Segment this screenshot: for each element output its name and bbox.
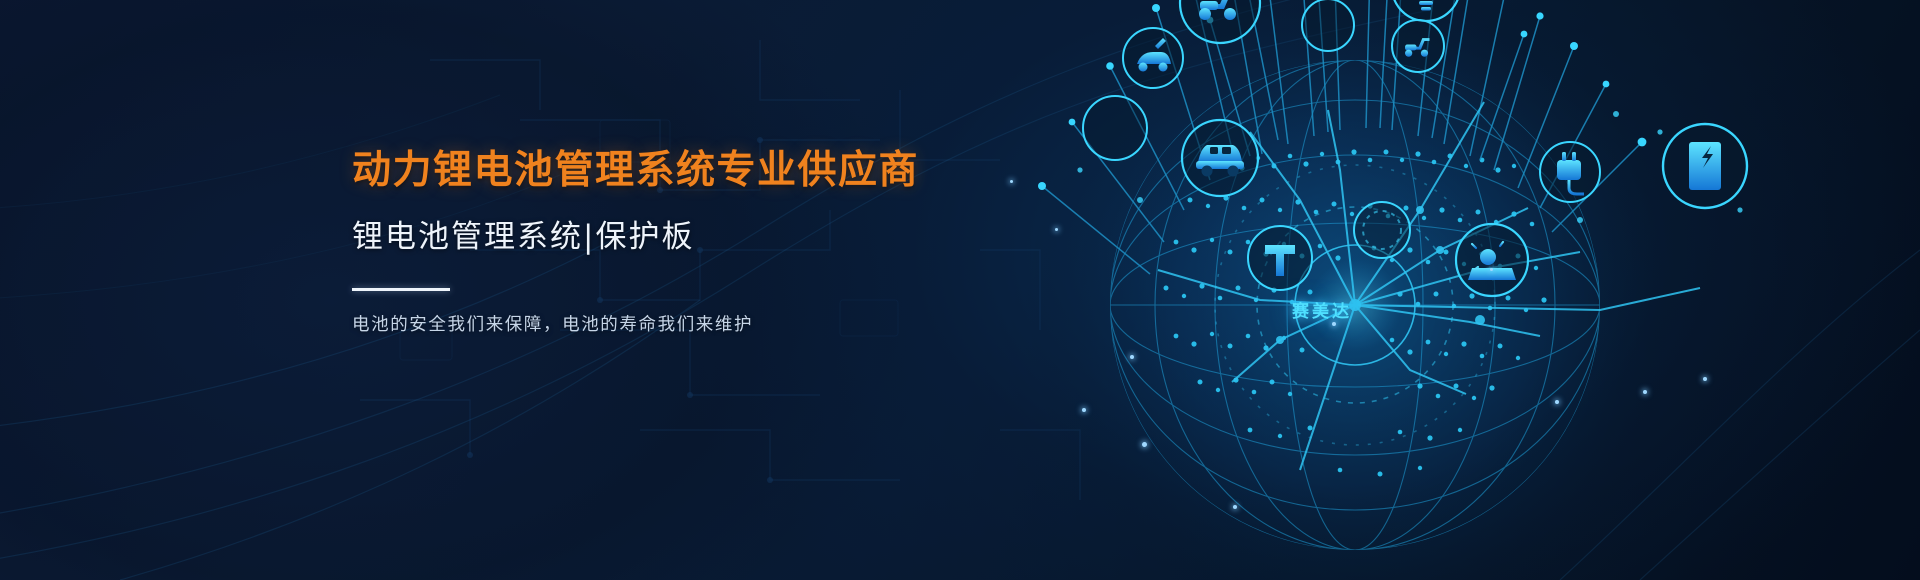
- node-empty-mid: [1354, 202, 1410, 258]
- node-empty-left: [1083, 96, 1147, 160]
- node-empty-upper: [1302, 0, 1354, 51]
- glow-dot: [1142, 442, 1147, 447]
- glow-dot: [1490, 268, 1493, 271]
- glow-dot: [1082, 408, 1086, 412]
- glow-dot: [1703, 377, 1707, 381]
- glow-dot: [1332, 322, 1336, 326]
- glow-dot: [1233, 505, 1237, 509]
- page-title: 动力锂电池管理系统专业供应商: [352, 148, 992, 193]
- glow-dot: [1010, 180, 1013, 183]
- globe-hub-label: 赛美达: [1292, 297, 1352, 322]
- page-subtitle: 锂电池管理系统|保护板: [352, 219, 992, 256]
- glow-dot: [1130, 355, 1134, 359]
- glow-dot: [1643, 390, 1647, 394]
- title-divider-rule: [352, 288, 450, 291]
- hero-text-block: 动力锂电池管理系统专业供应商 锂电池管理系统|保护板 电池的安全我们来保障，电池…: [352, 148, 992, 338]
- glow-dot: [1055, 228, 1058, 231]
- glow-dot: [1555, 400, 1559, 404]
- node-scooter-small: [1392, 20, 1444, 72]
- page-tagline: 电池的安全我们来保障，电池的寿命我们来维护: [352, 313, 992, 338]
- hero-banner: 赛美达 动力锂电池管理系统专业供应商 锂电池管理系统|保护板 电池的安全我们来保…: [0, 0, 1920, 580]
